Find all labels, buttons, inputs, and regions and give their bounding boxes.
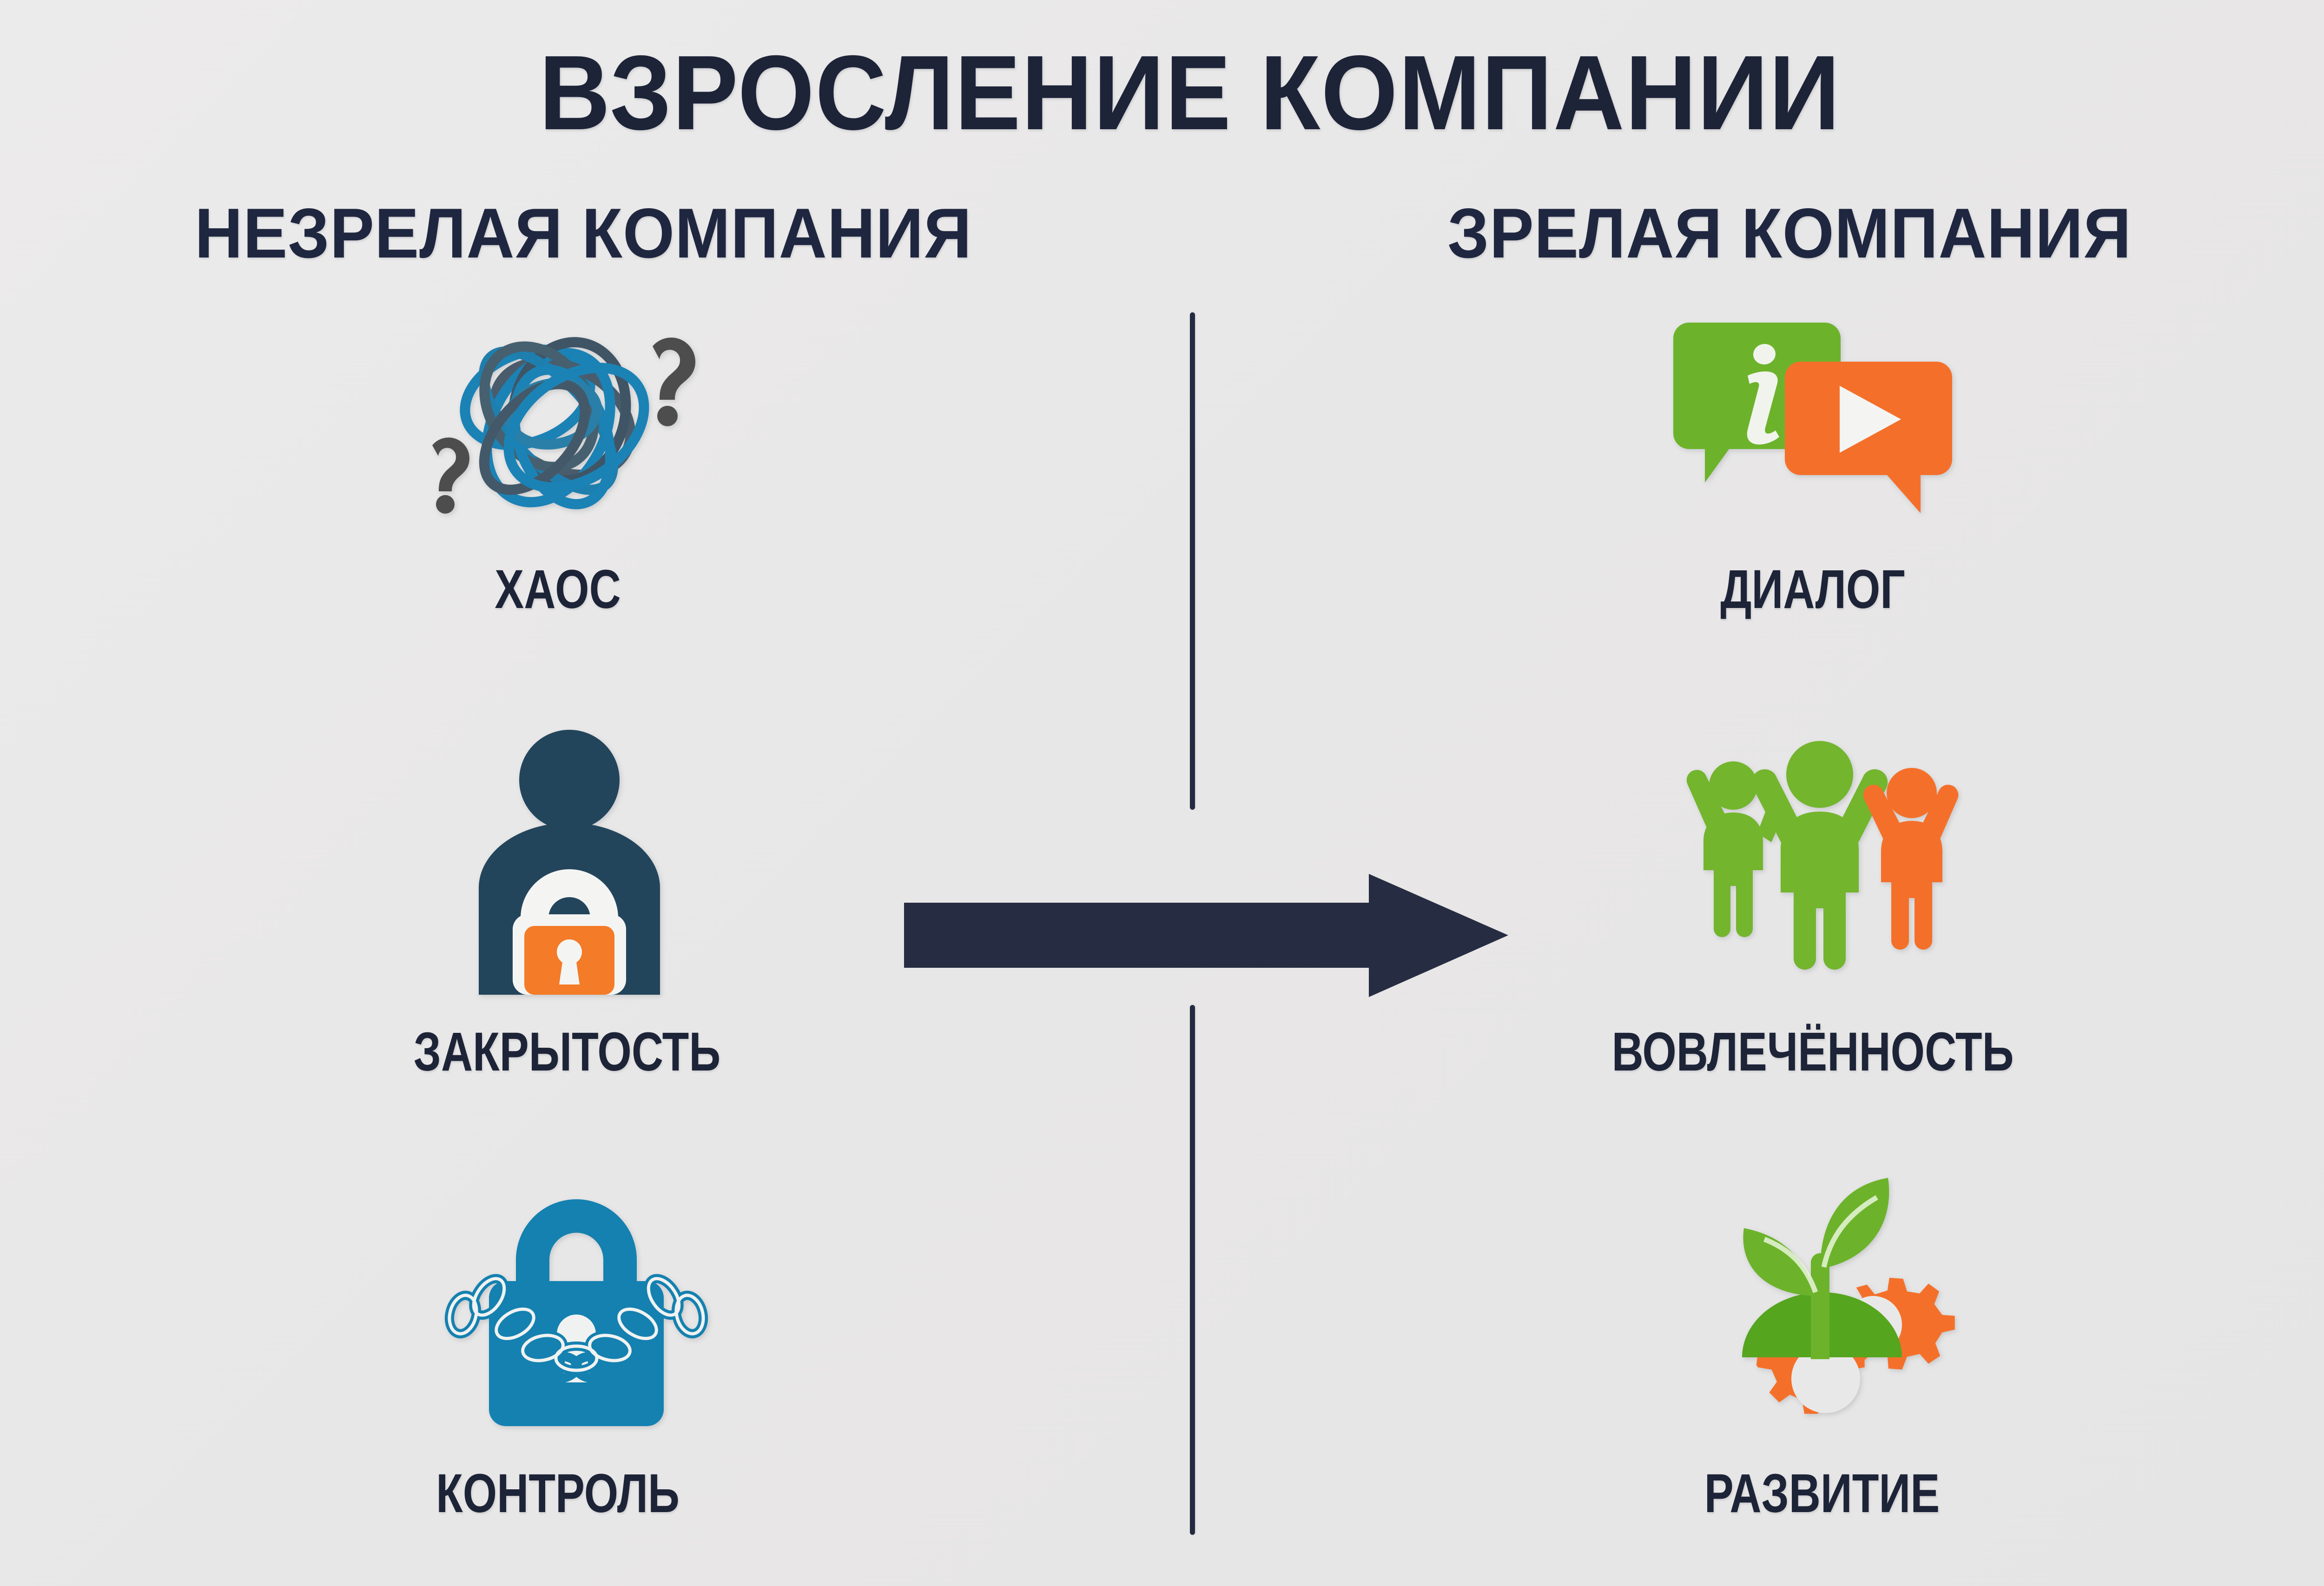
vertical-divider-line-bottom xyxy=(1190,1005,1195,1535)
right-arrow-icon xyxy=(904,874,1508,997)
person-with-padlock-icon xyxy=(465,730,674,995)
item-label-closed: ЗАКРЫТОСТЬ xyxy=(374,1020,760,1084)
padlock-with-chain-icon xyxy=(432,1190,720,1432)
item-label-control: КОНТРОЛЬ xyxy=(364,1462,751,1525)
column-header-immature: НЕЗРЕЛАЯ КОМПАНИЯ xyxy=(92,193,1075,274)
infographic-canvas: ВЗРОСЛЕНИЕ КОМПАНИИ НЕЗРЕЛАЯ КОМПАНИЯ ЗР… xyxy=(0,0,2324,1586)
item-label-dialog: ДИАЛОГ xyxy=(1619,558,2006,621)
sprout-with-gear-icon xyxy=(1720,1171,1961,1432)
column-header-mature: ЗРЕЛАЯ КОМПАНИЯ xyxy=(1327,193,2253,274)
three-cheering-people-icon xyxy=(1676,730,1964,967)
two-speech-bubbles-icon xyxy=(1669,321,1957,516)
page-title: ВЗРОСЛЕНИЕ КОМПАНИИ xyxy=(83,33,2297,154)
tangled-scribble-question-marks-icon xyxy=(409,321,706,535)
vertical-divider-line-top xyxy=(1190,312,1195,810)
item-label-chaos: ХАОС xyxy=(364,558,751,621)
item-label-growth: РАЗВИТИЕ xyxy=(1629,1462,2015,1525)
item-label-engagement: ВОВЛЕЧЁННОСТЬ xyxy=(1590,1020,2036,1084)
